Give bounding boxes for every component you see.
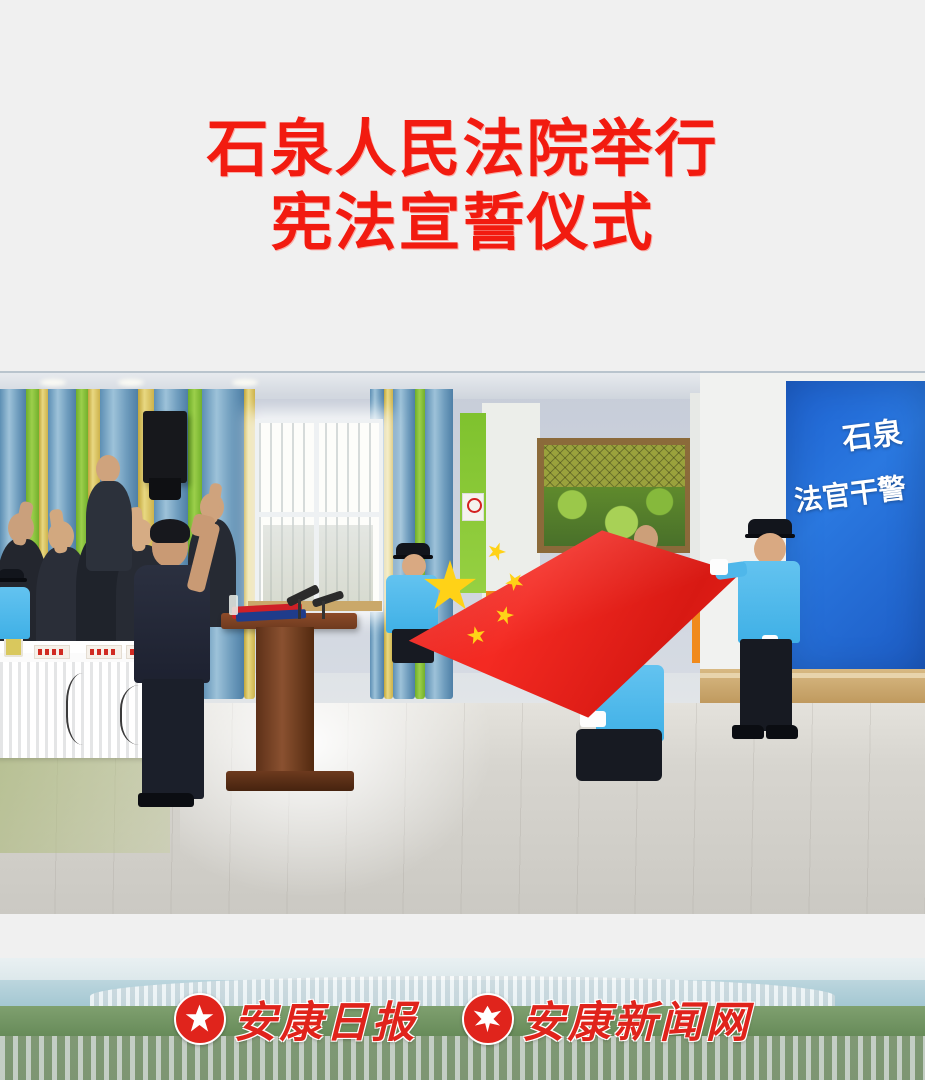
oath-leader-hair xyxy=(150,519,190,543)
ceremony-photo: 石泉 法官干警 xyxy=(0,371,925,916)
microphone-stand xyxy=(298,599,301,619)
cable xyxy=(66,673,108,745)
name-card xyxy=(86,645,122,659)
officer-shoe xyxy=(732,725,764,739)
no-smoking-sign-icon xyxy=(462,493,484,521)
bird-glyph-icon xyxy=(473,1004,503,1034)
name-card xyxy=(34,645,70,659)
footer-logo-group: 安康日报 安康新闻网 xyxy=(0,958,925,1080)
logo-ankang-daily[interactable]: 安康日报 xyxy=(174,988,418,1050)
footer-banner: 安康日报 安康新闻网 xyxy=(0,958,925,1080)
window xyxy=(255,419,383,612)
star-logo-icon xyxy=(174,993,226,1045)
window-lattice xyxy=(544,445,685,487)
title-block: 石泉人民法院举行 宪法宣誓仪式 xyxy=(0,0,925,371)
officer-legs xyxy=(740,639,792,731)
water-bottle xyxy=(229,595,238,615)
logo-ankang-news[interactable]: 安康新闻网 xyxy=(462,988,752,1050)
backdrop-banner-line-1: 石泉 xyxy=(840,408,905,459)
ceiling-light-icon xyxy=(40,379,66,386)
speaker-box xyxy=(143,411,187,483)
flag-sheen xyxy=(395,528,740,768)
officer-shoe xyxy=(766,725,798,739)
logo-ankang-news-text: 安康新闻网 xyxy=(522,988,752,1050)
attendee-body xyxy=(86,481,132,571)
window-mullion xyxy=(314,423,319,608)
bird-logo-icon xyxy=(462,993,514,1045)
ceiling-light-icon xyxy=(232,379,258,386)
page-title-line-1: 石泉人民法院举行 xyxy=(206,112,718,186)
national-flag xyxy=(395,528,740,768)
officer-cap xyxy=(0,569,24,579)
flag-star-large xyxy=(423,560,477,614)
podium-base xyxy=(226,771,354,791)
officer-uniform-shirt xyxy=(738,561,800,643)
backdrop-banner-line-2: 法官干警 xyxy=(792,466,908,519)
ceiling-light-icon xyxy=(118,379,144,386)
curtain-panel xyxy=(244,389,255,699)
oath-leader-shoe xyxy=(138,793,194,807)
officer-white-glove xyxy=(710,559,728,575)
microphone-stand xyxy=(322,601,325,619)
page-title-line-2: 宪法宣誓仪式 xyxy=(270,186,654,260)
flag-star-small xyxy=(484,539,508,563)
speaker-box-lower xyxy=(149,478,181,500)
attendee-head xyxy=(96,455,120,483)
podium-column xyxy=(256,627,314,777)
oath-leader-legs xyxy=(142,679,204,799)
logo-ankang-daily-text: 安康日报 xyxy=(234,988,418,1050)
officer-uniform-shirt xyxy=(0,587,30,639)
spacer xyxy=(0,914,925,958)
star-glyph-icon xyxy=(185,1004,215,1034)
backdrop-banner: 石泉 法官干警 xyxy=(786,381,925,676)
